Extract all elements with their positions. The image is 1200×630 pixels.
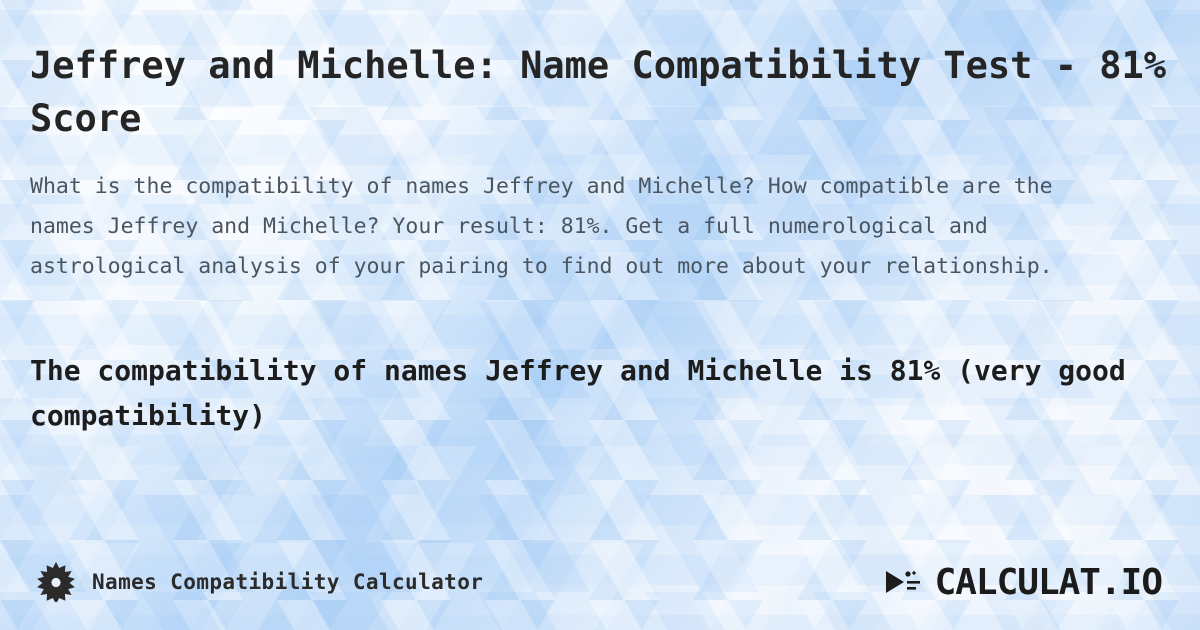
page-description: What is the compatibility of names Jeffr… xyxy=(30,167,1120,288)
star-burst-icon xyxy=(36,562,76,602)
card-footer: Names Compatibility Calculator CALCULAT.… xyxy=(0,534,1200,630)
share-card: Jeffrey and Michelle: Name Compatibility… xyxy=(0,0,1200,630)
page-title: Jeffrey and Michelle: Name Compatibility… xyxy=(30,40,1170,145)
brand-left-group: Names Compatibility Calculator xyxy=(36,562,483,602)
logo-text: CALCULAT.IO xyxy=(935,562,1162,603)
result-heading: The compatibility of names Jeffrey and M… xyxy=(30,348,1170,439)
brand-label: Names Compatibility Calculator xyxy=(92,570,483,594)
logo-group: CALCULAT.IO xyxy=(883,562,1162,603)
card-content: Jeffrey and Michelle: Name Compatibility… xyxy=(0,0,1200,288)
calculatio-mark-icon xyxy=(883,565,925,599)
